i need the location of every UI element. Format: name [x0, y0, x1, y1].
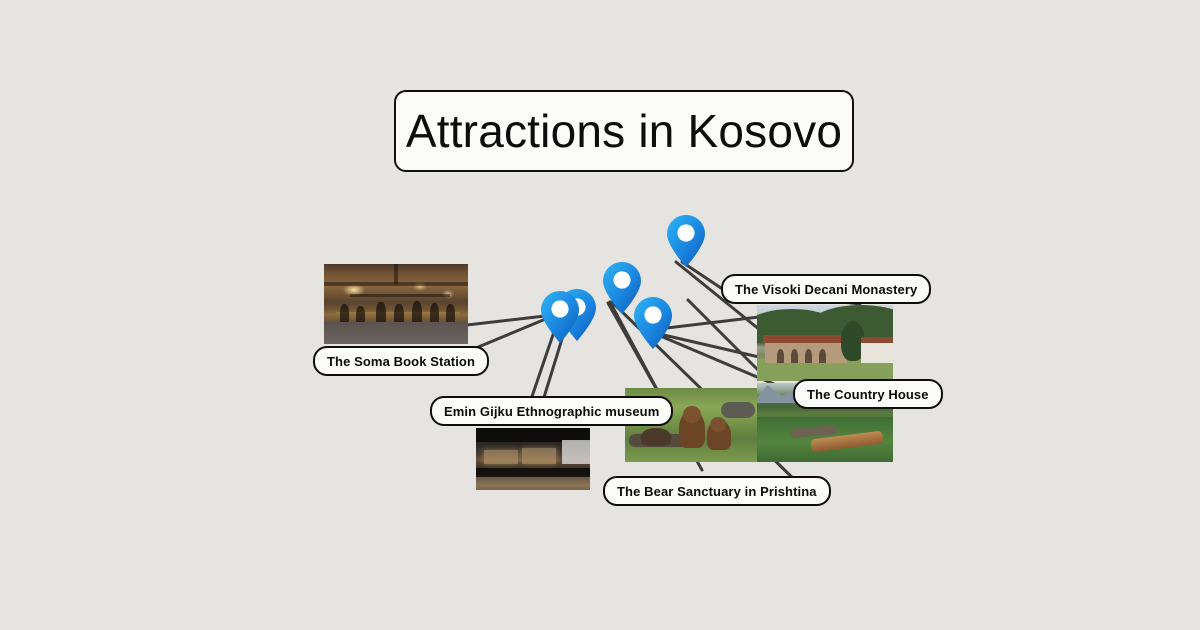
infographic-canvas: Attractions in Kosovo The Soma Book Stat… — [0, 0, 1200, 630]
label-text: The Country House — [807, 387, 929, 402]
map-pin-icon-monastery[interactable] — [667, 215, 705, 267]
label-country-house[interactable]: The Country House — [793, 379, 943, 409]
label-text: Emin Gijku Ethnographic museum — [444, 404, 659, 419]
photo-soma-book-station — [324, 264, 468, 344]
label-text: The Soma Book Station — [327, 354, 475, 369]
label-emin-gijku-museum[interactable]: Emin Gijku Ethnographic museum — [430, 396, 673, 426]
label-visoki-decani-monastery[interactable]: The Visoki Decani Monastery — [721, 274, 931, 304]
page-title: Attractions in Kosovo — [394, 90, 854, 172]
map-pin-icon-bear-sanctuary[interactable] — [634, 297, 672, 349]
label-text: The Bear Sanctuary in Prishtina — [617, 484, 817, 499]
map-pin-icon-soma[interactable] — [541, 291, 579, 343]
label-soma-book-station[interactable]: The Soma Book Station — [313, 346, 489, 376]
page-title-text: Attractions in Kosovo — [406, 108, 842, 154]
label-text: The Visoki Decani Monastery — [735, 282, 917, 297]
connector-monastery-b — [688, 300, 760, 372]
photo-emin-gijku-museum — [476, 428, 590, 490]
label-bear-sanctuary[interactable]: The Bear Sanctuary in Prishtina — [603, 476, 831, 506]
photo-visoki-decani-monastery — [757, 305, 893, 381]
